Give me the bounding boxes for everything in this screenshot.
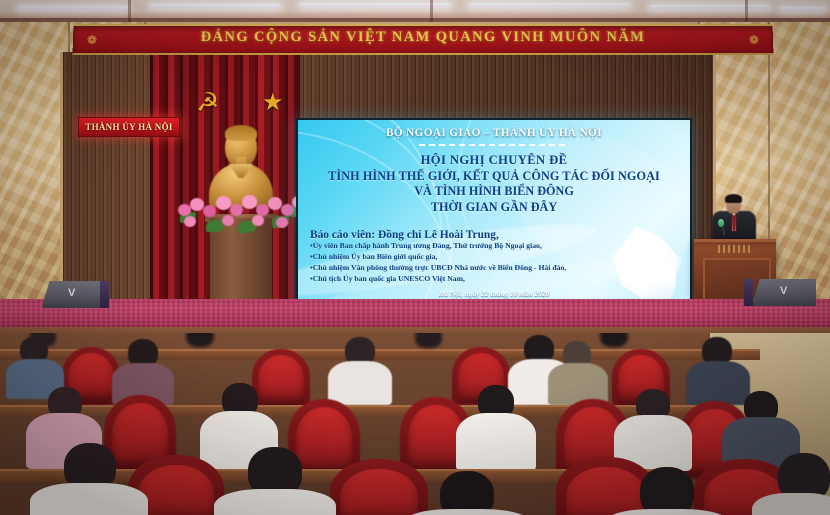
- slide-speaker-block: Báo cáo viên: Đồng chí Lê Hoài Trung, •Ủ…: [310, 229, 682, 285]
- audience-member: [328, 361, 392, 405]
- slide-header: BỘ NGOẠI GIAO – THÀNH ỦY HÀ NỘI: [298, 127, 690, 139]
- stage-monitor-left-side: [100, 281, 109, 308]
- audience-member: [30, 483, 148, 515]
- stage-monitor-left: V: [42, 281, 104, 308]
- monitor-logo-left: V: [68, 287, 75, 299]
- audience-member: [640, 467, 694, 515]
- audience-member: [752, 493, 830, 515]
- audience-area: [0, 333, 830, 515]
- green-microphone-icon: [718, 219, 724, 227]
- stage-monitor-right: V: [752, 279, 816, 306]
- seat: [138, 465, 214, 515]
- slide-title-line-2: TÌNH HÌNH THẾ GIỚI, KẾT QUẢ CÔNG TÁC ĐỐI…: [298, 169, 690, 184]
- venue-sign: THÀNH ỦY HÀ NỘI: [78, 117, 180, 137]
- slide-speaker-role-text: Chủ nhiệm Văn phòng thường trực UBCĐ Nhà…: [313, 263, 567, 272]
- venue-sign-text: THÀNH ỦY HÀ NỘI: [79, 118, 179, 136]
- slide-speaker-role-text: Chủ nhiệm Ủy ban Biên giới quốc gia,: [313, 252, 438, 261]
- audience-member: [600, 333, 628, 347]
- slide-date-line: Hà Nội, ngày 22 tháng 10 năm 2020: [298, 289, 690, 298]
- slide-title-line-1: HỘI NGHỊ CHUYÊN ĐỀ: [298, 153, 690, 169]
- audience-member: [415, 333, 442, 348]
- led-presentation-screen: BỘ NGOẠI GIAO – THÀNH ỦY HÀ NỘI HỘI NGHỊ…: [296, 118, 692, 307]
- slide-speaker-role: •Chủ tịch Ủy ban quốc gia UNESCO Việt Na…: [310, 274, 682, 285]
- audience-member: [456, 413, 536, 471]
- seat: [296, 407, 352, 473]
- slide-speaker-role: •Ủy viên Ban chấp hành Trung ương Đảng, …: [310, 241, 682, 252]
- audience-member: [214, 489, 336, 515]
- presenter-tie: [732, 215, 736, 231]
- slide-speaker-role-text: Ủy viên Ban chấp hành Trung ương Đảng, T…: [313, 241, 542, 250]
- seat: [566, 467, 646, 515]
- slide-title-line-3: VÀ TÌNH HÌNH BIỂN ĐÔNG: [298, 184, 690, 199]
- slide-canvas: BỘ NGOẠI GIAO – THÀNH ỦY HÀ NỘI HỘI NGHỊ…: [298, 120, 690, 305]
- presenter-hair: [725, 194, 742, 203]
- slide-speaker-lead: Báo cáo viên: Đồng chí Lê Hoài Trung,: [310, 229, 682, 241]
- stage-monitor-right-side: [744, 279, 753, 306]
- red-curtain-left-edge: [150, 52, 184, 304]
- slide-speaker-role: •Chủ nhiệm Ủy ban Biên giới quốc gia,: [310, 252, 682, 263]
- seat: [340, 469, 418, 515]
- seat: [258, 355, 304, 405]
- banner-text: ĐẢNG CỘNG SẢN VIỆT NAM QUANG VINH MUÔN N…: [73, 29, 773, 46]
- audience-member: [186, 333, 214, 347]
- slide-divider: [419, 144, 569, 146]
- conference-hall-photo: ☭ ★ ❁ ĐẢNG CỘNG SẢN VIỆT NAM QUANG VINH …: [0, 0, 830, 515]
- audience-member: [686, 361, 750, 405]
- hammer-sickle-emblem: ☭: [196, 88, 219, 118]
- overhead-banner: ❁ ĐẢNG CỘNG SẢN VIỆT NAM QUANG VINH MUÔN…: [73, 24, 774, 55]
- slide-title-line-4: THỜI GIAN GẦN ĐÂY: [298, 200, 690, 215]
- slide-speaker-role: •Chủ nhiệm Văn phòng thường trực UBCĐ Nh…: [310, 263, 682, 274]
- slide-speaker-role-text: Chủ tịch Ủy ban quốc gia UNESCO Việt Nam…: [313, 274, 465, 283]
- monitor-logo-right: V: [780, 285, 787, 297]
- slide-title: HỘI NGHỊ CHUYÊN ĐỀ TÌNH HÌNH THẾ GIỚI, K…: [298, 153, 690, 215]
- gold-star-emblem: ★: [262, 88, 284, 117]
- banner-flower-right: ❁: [749, 33, 759, 48]
- pink-flower-arrangement: [176, 190, 308, 236]
